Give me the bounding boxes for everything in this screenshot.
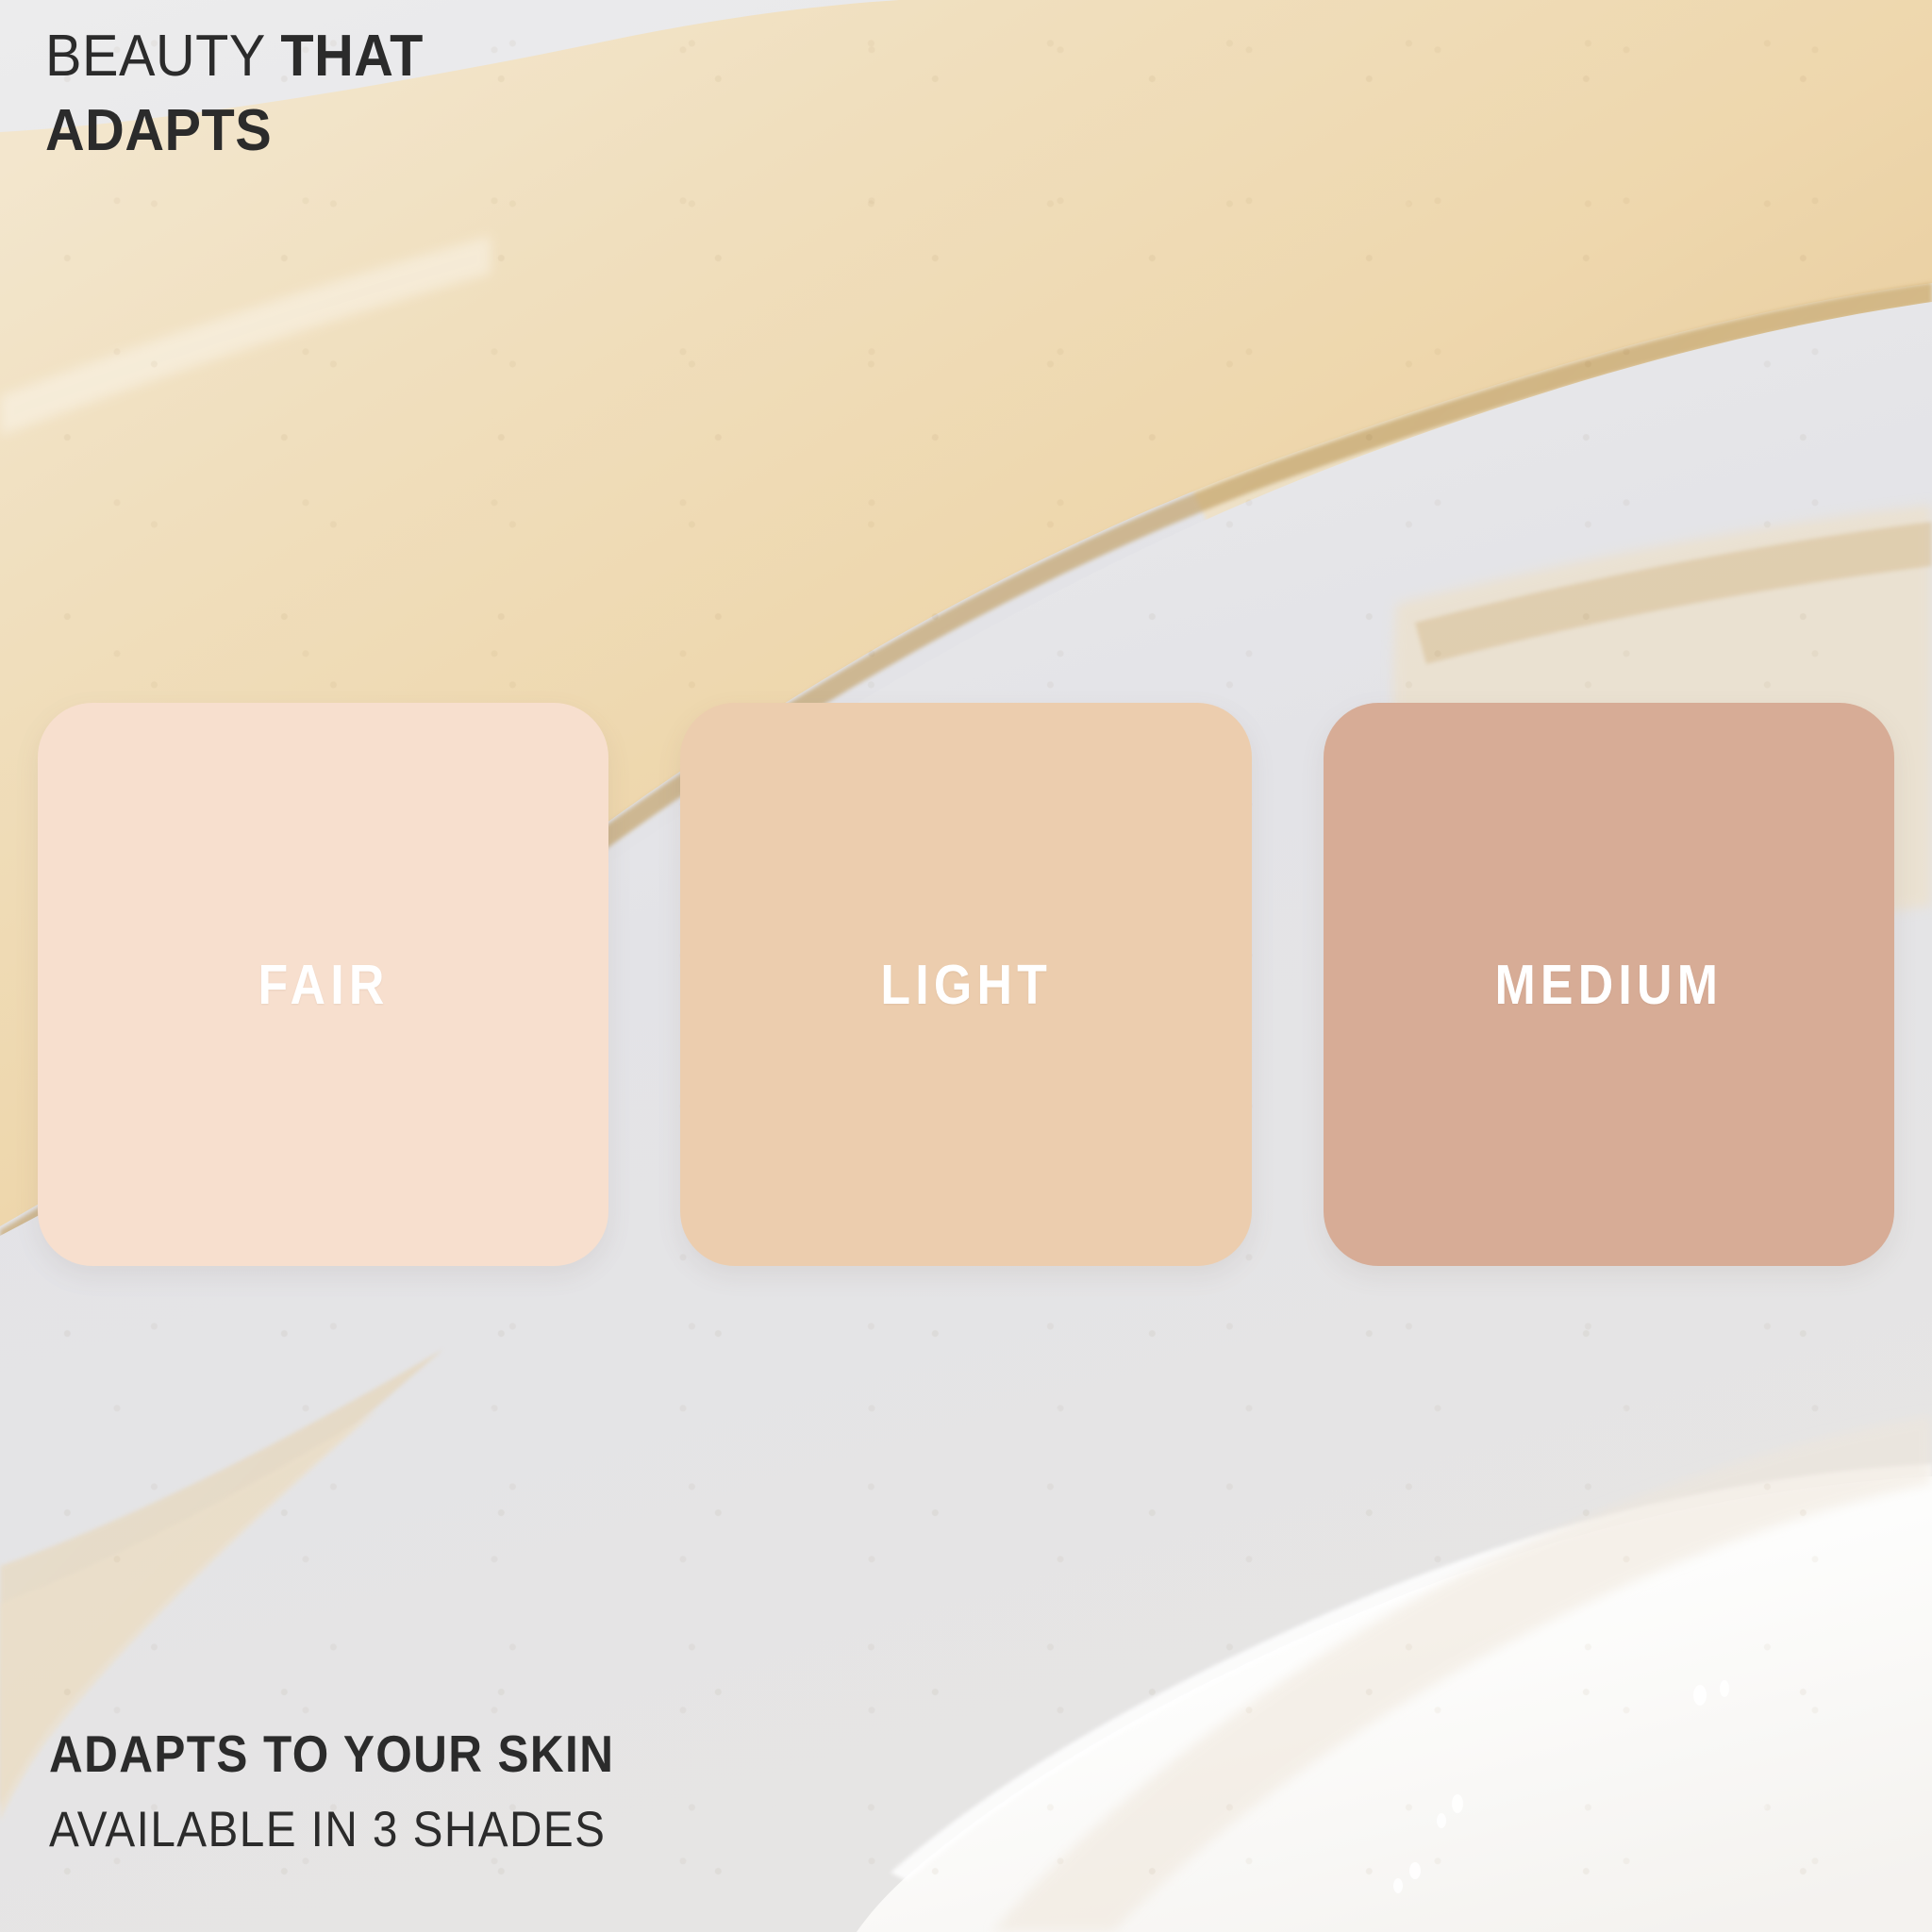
shade-label-medium: MEDIUM [1494,953,1723,1017]
headline-line-1: BEAUTY THAT [45,26,424,86]
footer-text-block: ADAPTS TO YOUR SKIN AVAILABLE IN 3 SHADE… [49,1728,677,1855]
footer-subtext: AVAILABLE IN 3 SHADES [49,1805,614,1855]
headline-word-adapts: ADAPTS [45,101,424,160]
headline-word-beauty: BEAUTY [45,24,280,89]
shade-swatch-fair[interactable]: FAIR [38,703,608,1266]
shade-label-fair: FAIR [258,953,389,1017]
page-title: BEAUTY THAT ADAPTS [45,26,452,160]
footer-tagline: ADAPTS TO YOUR SKIN [49,1728,614,1780]
shade-swatch-row: FAIR LIGHT MEDIUM [38,703,1894,1266]
headline-word-that: THAT [280,24,424,89]
shade-swatch-light[interactable]: LIGHT [680,703,1251,1266]
shade-label-light: LIGHT [880,953,1052,1017]
shade-swatch-medium[interactable]: MEDIUM [1324,703,1894,1266]
